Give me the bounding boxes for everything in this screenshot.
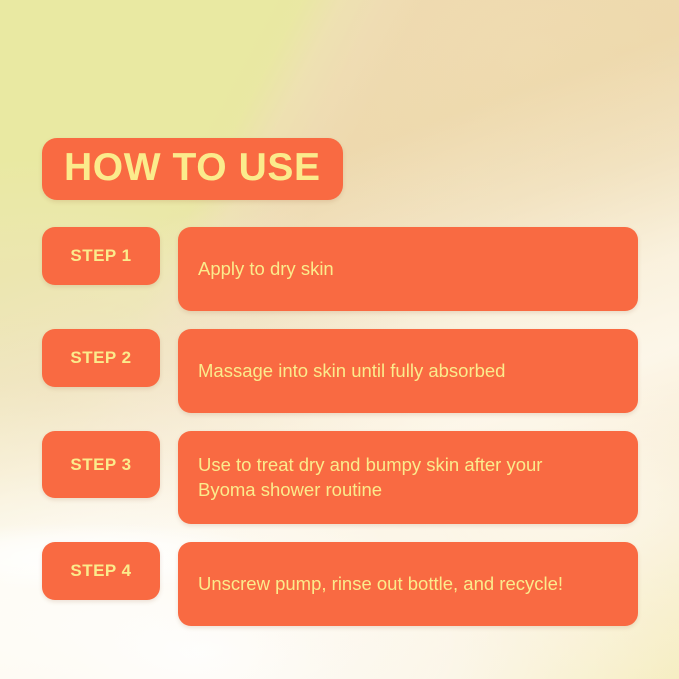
step-body-badge: Use to treat dry and bumpy skin after yo… xyxy=(178,431,638,524)
how-to-use-infographic: HOW TO USE STEP 1 Apply to dry skin STEP… xyxy=(0,0,679,679)
step-description: Use to treat dry and bumpy skin after yo… xyxy=(198,453,542,502)
step-label: STEP 4 xyxy=(70,561,131,581)
step-row: STEP 4 Unscrew pump, rinse out bottle, a… xyxy=(42,542,638,626)
step-description: Massage into skin until fully absorbed xyxy=(198,359,505,383)
step-label-badge: STEP 3 xyxy=(42,431,160,498)
content-area: HOW TO USE STEP 1 Apply to dry skin STEP… xyxy=(42,138,638,626)
steps-list: STEP 1 Apply to dry skin STEP 2 Massage … xyxy=(42,227,638,626)
step-body-badge: Apply to dry skin xyxy=(178,227,638,311)
page-title: HOW TO USE xyxy=(64,148,321,187)
step-description: Unscrew pump, rinse out bottle, and recy… xyxy=(198,572,563,596)
step-label: STEP 3 xyxy=(70,455,131,475)
step-row: STEP 2 Massage into skin until fully abs… xyxy=(42,329,638,413)
step-row: STEP 1 Apply to dry skin xyxy=(42,227,638,311)
step-label: STEP 1 xyxy=(70,246,131,266)
step-body-badge: Massage into skin until fully absorbed xyxy=(178,329,638,413)
step-row: STEP 3 Use to treat dry and bumpy skin a… xyxy=(42,431,638,524)
step-label-badge: STEP 4 xyxy=(42,542,160,600)
step-label-badge: STEP 2 xyxy=(42,329,160,387)
page-title-badge: HOW TO USE xyxy=(42,138,343,200)
step-body-badge: Unscrew pump, rinse out bottle, and recy… xyxy=(178,542,638,626)
step-label-badge: STEP 1 xyxy=(42,227,160,285)
step-description: Apply to dry skin xyxy=(198,257,334,281)
step-label: STEP 2 xyxy=(70,348,131,368)
